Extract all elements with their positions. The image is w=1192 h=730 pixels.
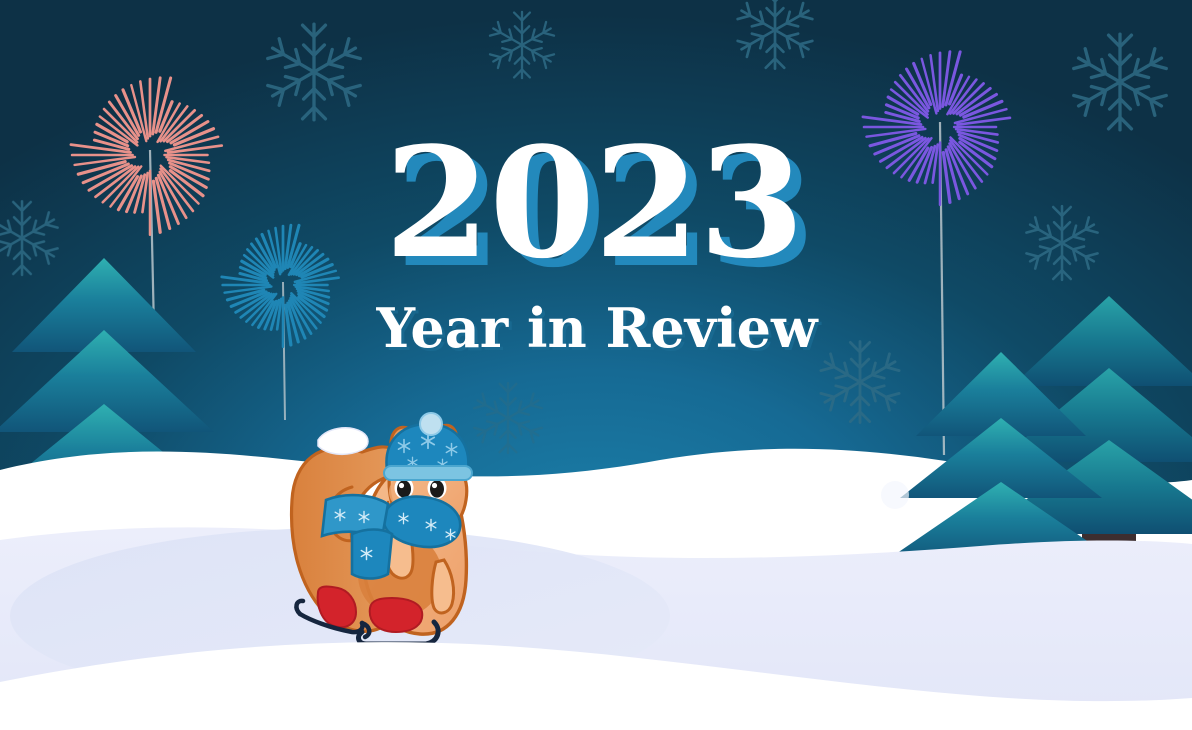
hat-brim (384, 466, 472, 480)
scarf-tail-lower (352, 530, 392, 579)
page-title: 2023 (384, 113, 803, 292)
year-in-review-banner: 2023 2023 Year in Review Year in Review (0, 0, 1192, 730)
winter-scene-illustration: 2023 2023 Year in Review Year in Review (0, 0, 1192, 730)
page-subtitle: Year in Review (376, 296, 820, 360)
title-block: 2023 2023 Year in Review Year in Review (376, 113, 823, 363)
skate-boot (370, 598, 423, 632)
hat-pompom (420, 413, 442, 435)
snow-bump-small (881, 481, 909, 509)
